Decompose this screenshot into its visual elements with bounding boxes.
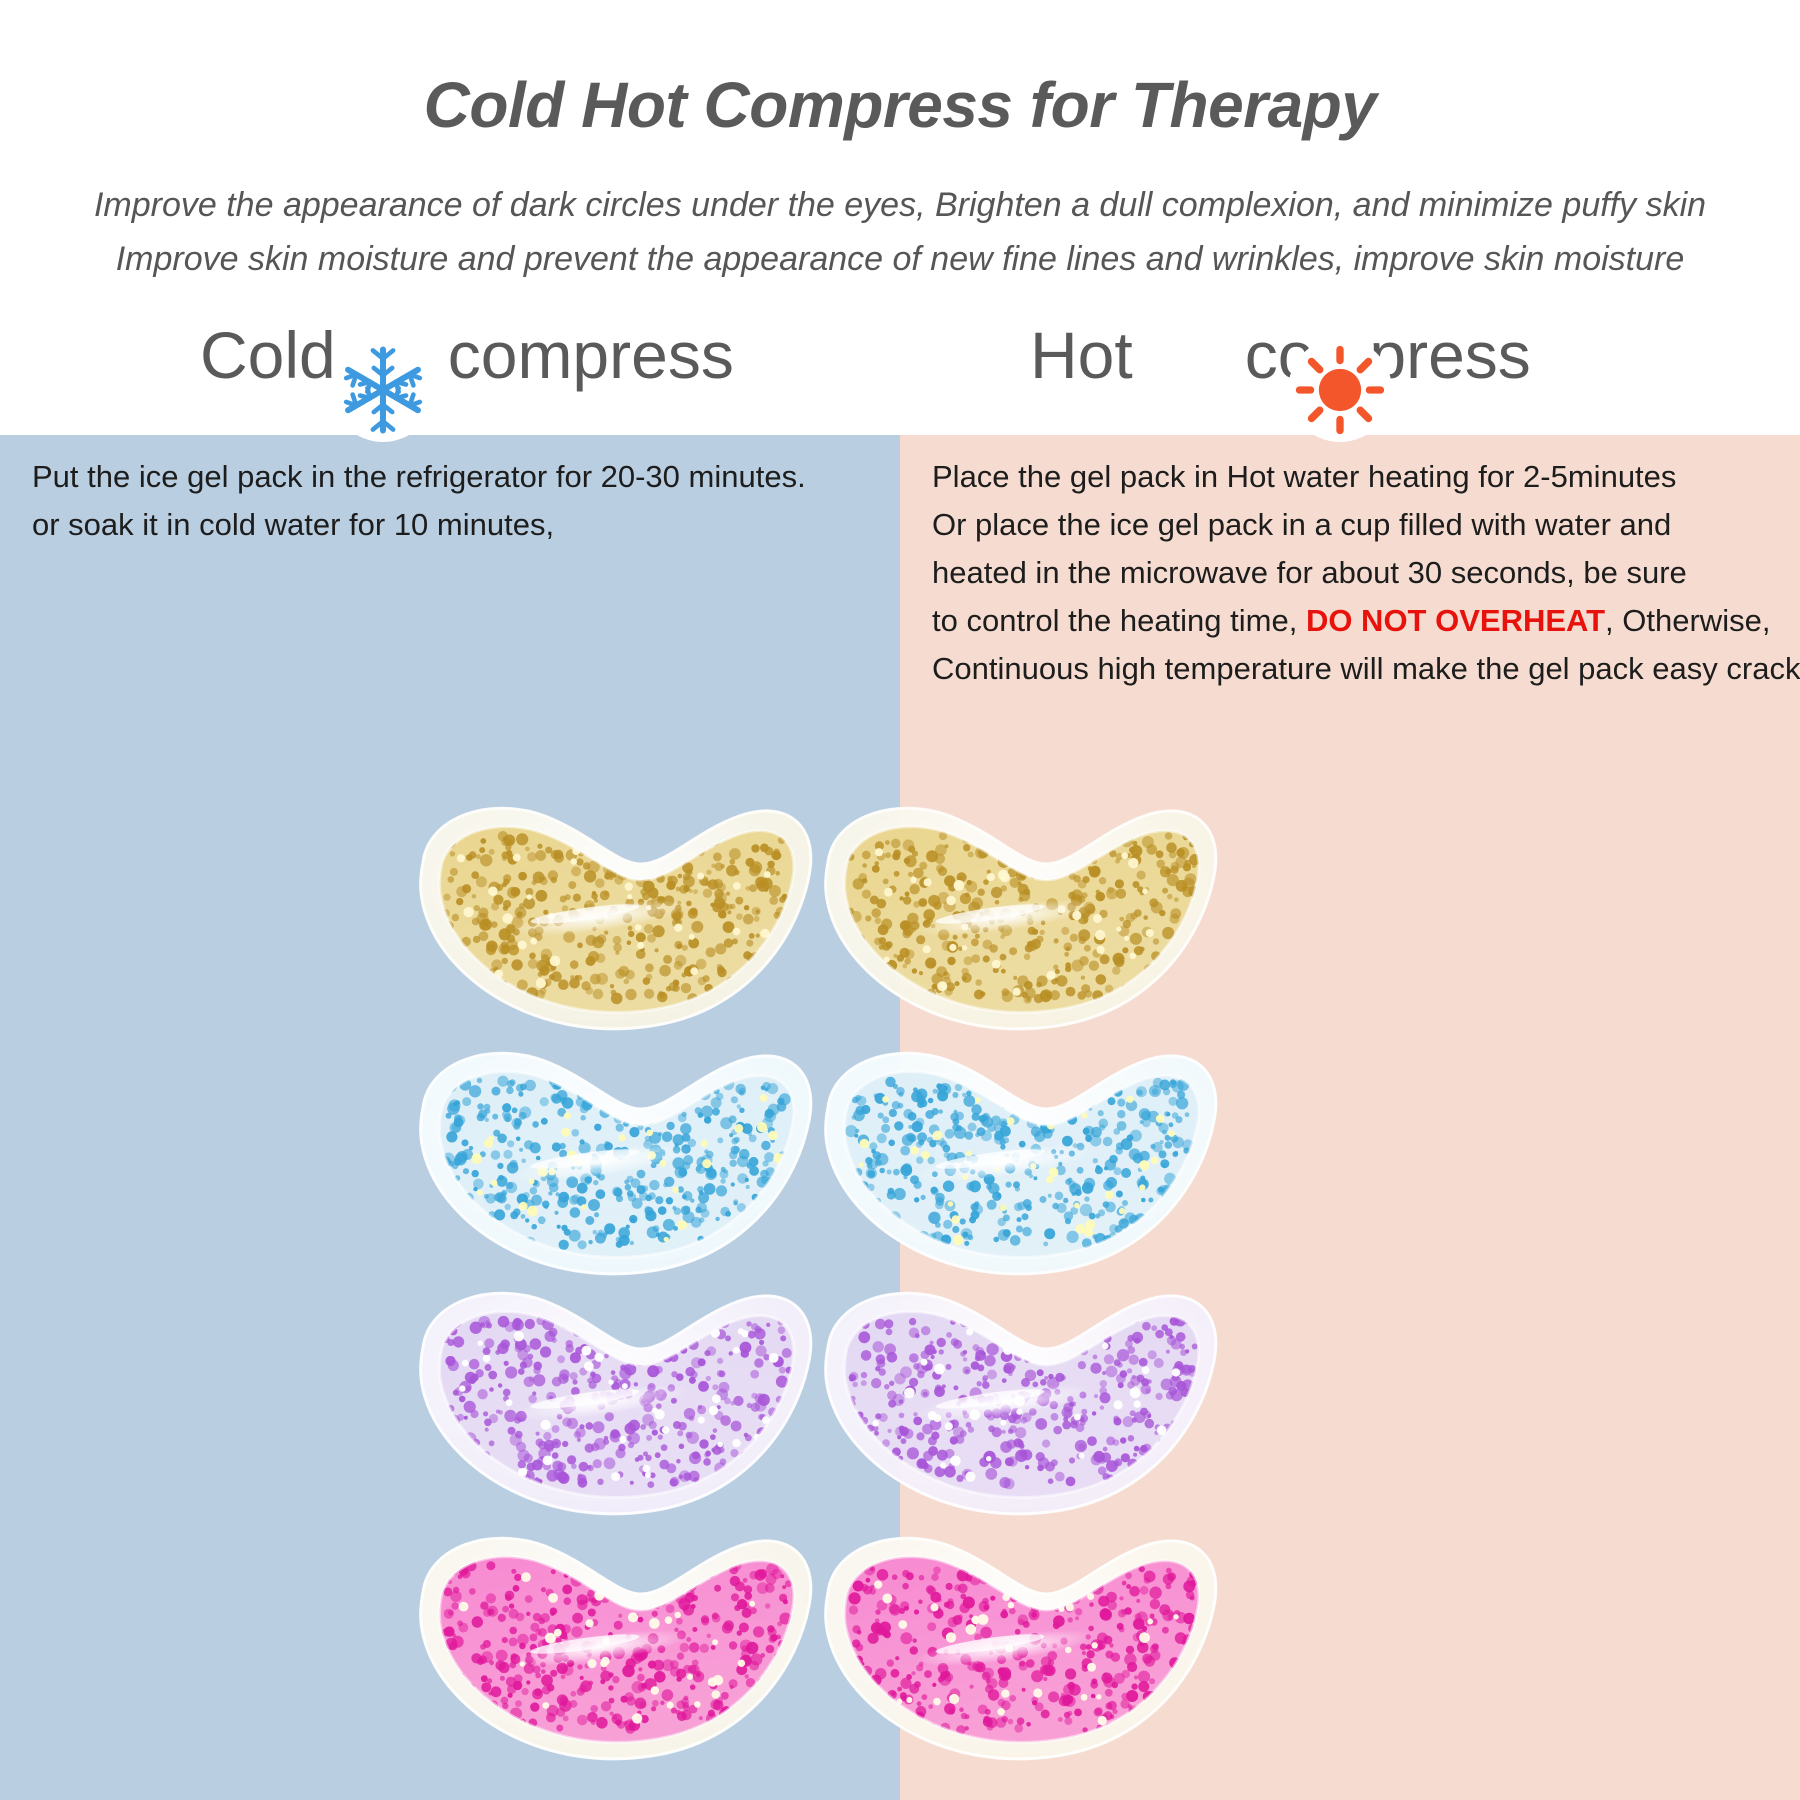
- cold-instruction-line: Put the ice gel pack in the refrigerator…: [32, 453, 880, 501]
- hot-instruction-line: Place the gel pack in Hot water heating …: [932, 453, 1790, 501]
- blue-glitter-gel-patch[interactable]: [395, 1035, 825, 1290]
- cold-heading-word-1: Cold: [200, 322, 336, 388]
- purple-glitter-gel-patch[interactable]: [395, 1275, 825, 1530]
- blue-glitter-gel-patch-shape: [800, 1035, 1230, 1290]
- sun-icon-badge: [1288, 338, 1392, 442]
- hot-instruction-text: to control the heating time,: [932, 603, 1306, 638]
- page-title: Cold Hot Compress for Therapy: [0, 68, 1800, 142]
- sun-icon: [1294, 344, 1386, 436]
- hot-instruction-text: , Otherwise,: [1605, 603, 1770, 638]
- blue-glitter-gel-patch-shape: [395, 1035, 825, 1290]
- snowflake-icon: [337, 344, 429, 436]
- purple-glitter-gel-patch-shape: [800, 1275, 1230, 1530]
- gold-glitter-gel-patch-shape: [800, 790, 1230, 1045]
- section-headings: Cold compress Hot compress: [0, 300, 1800, 410]
- gold-glitter-gel-patch-shape: [395, 790, 825, 1045]
- hot-heading-word-1: Hot: [1030, 322, 1133, 388]
- hot-instruction-text: Or place the ice gel pack in a cup fille…: [932, 507, 1671, 542]
- pink-glitter-gel-patch[interactable]: [395, 1520, 825, 1775]
- hot-instruction-text: Continuous high temperature will make th…: [932, 651, 1800, 686]
- hot-instruction-text: Place the gel pack in Hot water heating …: [932, 459, 1676, 494]
- hot-instruction-line: Or place the ice gel pack in a cup fille…: [932, 501, 1790, 549]
- gold-glitter-gel-patch[interactable]: [395, 790, 825, 1045]
- subtitle-block: Improve the appearance of dark circles u…: [0, 178, 1800, 286]
- hot-instruction-line: Continuous high temperature will make th…: [932, 645, 1790, 693]
- blue-glitter-gel-patch[interactable]: [800, 1035, 1230, 1290]
- cold-instruction-line: or soak it in cold water for 10 minutes,: [32, 501, 880, 549]
- purple-glitter-gel-patch-shape: [395, 1275, 825, 1530]
- hot-instructions: Place the gel pack in Hot water heating …: [900, 435, 1800, 693]
- pink-glitter-gel-patch[interactable]: [800, 1520, 1230, 1775]
- subtitle-line: Improve skin moisture and prevent the ap…: [0, 232, 1800, 286]
- hot-compress-heading: Hot compress: [1030, 300, 1531, 410]
- overheat-warning: DO NOT OVERHEAT: [1306, 603, 1605, 638]
- purple-glitter-gel-patch[interactable]: [800, 1275, 1230, 1530]
- gold-glitter-gel-patch[interactable]: [800, 790, 1230, 1045]
- hot-instruction-line: heated in the microwave for about 30 sec…: [932, 549, 1790, 597]
- infographic-page: Put the ice gel pack in the refrigerator…: [0, 0, 1800, 1800]
- hot-instruction-line: to control the heating time, DO NOT OVER…: [932, 597, 1790, 645]
- snowflake-icon-badge: [331, 338, 435, 442]
- pink-glitter-gel-patch-shape: [800, 1520, 1230, 1775]
- cold-compress-heading: Cold compress: [200, 300, 734, 410]
- pink-glitter-gel-patch-shape: [395, 1520, 825, 1775]
- cold-instructions: Put the ice gel pack in the refrigerator…: [0, 435, 900, 549]
- subtitle-line: Improve the appearance of dark circles u…: [0, 178, 1800, 232]
- sun-icon-slot: [1137, 303, 1241, 407]
- cold-heading-word-2: compress: [448, 322, 734, 388]
- hot-instruction-text: heated in the microwave for about 30 sec…: [932, 555, 1687, 590]
